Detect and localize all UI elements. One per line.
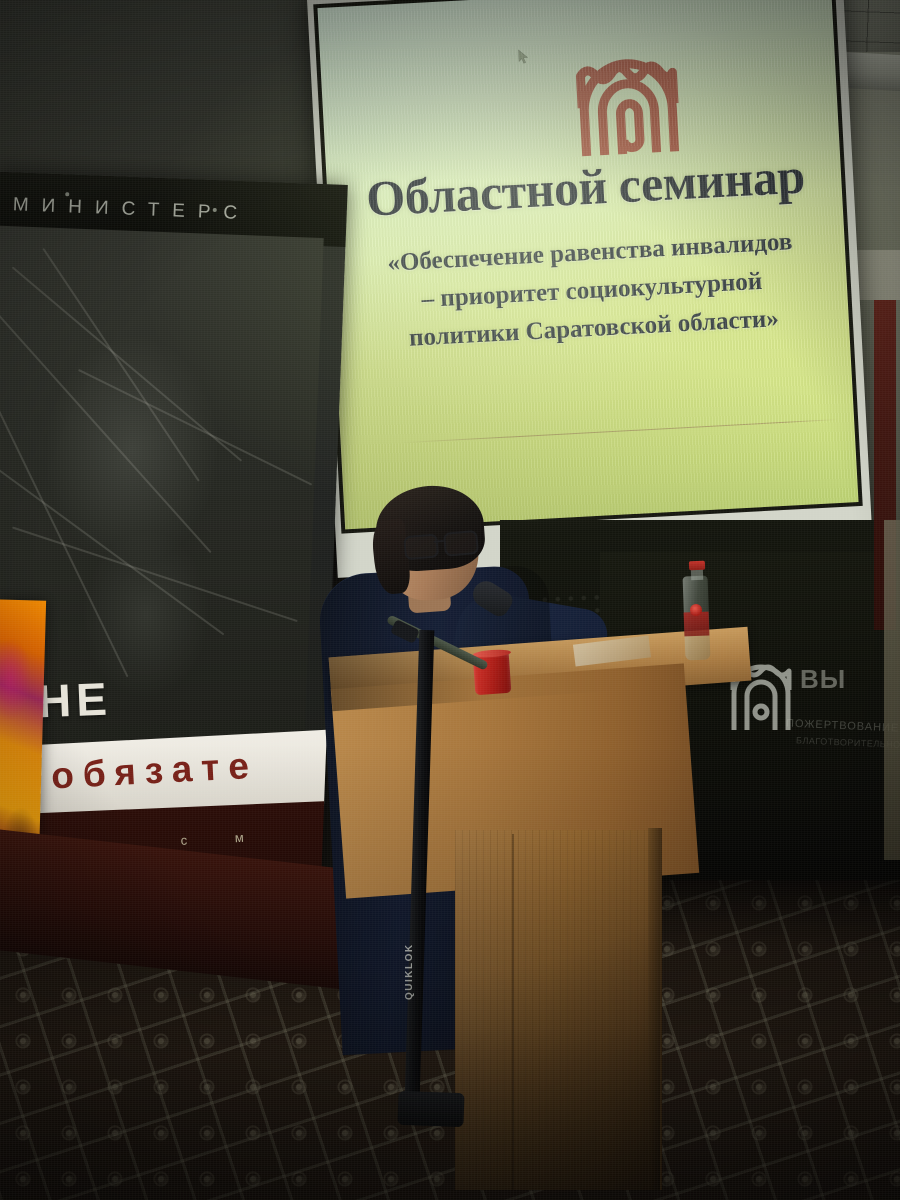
right-banner-main-text: ВЫ <box>800 664 846 695</box>
left-poster-text-ne: НЕ <box>37 672 113 729</box>
conference-photo-scene: Областной семинар «Обеспечение равенства… <box>0 0 900 1200</box>
microphone-stand-brand-label: QUIKLOK <box>404 943 415 1000</box>
right-banner-sub-text: ПОЖЕРТВОВАНИЕ <box>786 718 900 735</box>
left-poster-face-image <box>0 225 324 818</box>
microphone-stand-base <box>397 1091 464 1127</box>
eyeglass-lens-right <box>443 530 479 557</box>
far-right-wall-strip <box>884 520 900 860</box>
slide-divider-rule <box>401 419 838 443</box>
podium-column-shading <box>455 830 660 1190</box>
water-bottle-logo-icon <box>690 604 702 616</box>
slide-subtitle: «Обеспечение равенства инвалидов – приор… <box>356 222 827 361</box>
mouse-pointer-icon <box>518 49 529 65</box>
arch-spiral-at-logo <box>573 45 683 158</box>
projection-screen: Областной семинар «Обеспечение равенства… <box>317 0 858 529</box>
slide-title: Областной семинар <box>338 149 832 226</box>
eyeglass-bridge <box>434 540 444 543</box>
projection-screen-frame: Областной семинар «Обеспечение равенства… <box>307 0 873 578</box>
water-bottle-cap <box>689 561 705 571</box>
eyeglass-lens-left <box>403 533 439 560</box>
